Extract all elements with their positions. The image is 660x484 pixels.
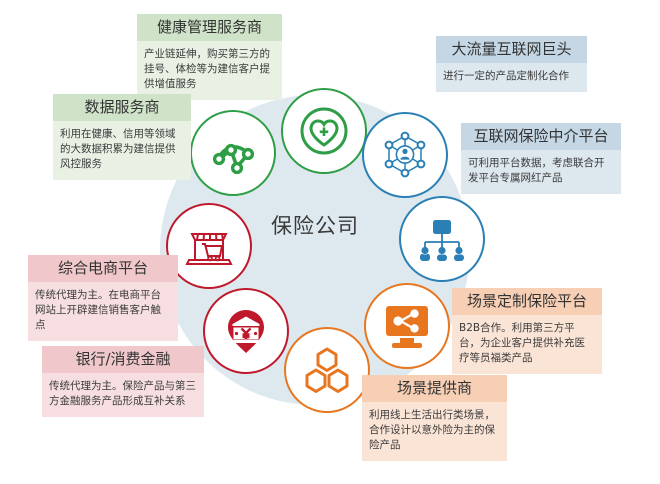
bubble-internet-giant[interactable] [362,112,448,198]
callout-title: 场景提供商 [362,375,507,402]
callout-internet-giant[interactable]: 大流量互联网巨头 进行一定的产品定制化合作 [436,36,587,92]
honeycomb-icon [300,343,354,397]
callout-title: 综合电商平台 [28,255,178,282]
callout-bank-consumer-finance[interactable]: 银行/消费金融 传统代理为主。保险产品与第三方金融服务产品形成互补关系 [42,346,204,417]
callout-title: 互联网保险中介平台 [461,123,621,150]
callout-title: 场景定制保险平台 [452,288,602,315]
bubble-insurance-broker-platform[interactable] [399,196,485,282]
network-person-icon [377,127,433,183]
org-chart-icon [414,211,470,267]
callout-title: 银行/消费金融 [42,346,204,373]
bubble-bank-consumer-finance[interactable] [203,288,289,374]
bubble-scenario-provider[interactable] [284,327,370,413]
callout-title: 大流量互联网巨头 [436,36,587,63]
callout-scenario-provider[interactable]: 场景提供商 利用线上生活出行类场景，合作设计以意外险为主的保险产品 [362,375,507,461]
callout-health-management[interactable]: 健康管理服务商 产业链延伸，购买第三方的挂号、体检等为建信客户提供增值服务 [137,14,282,100]
callout-data-service[interactable]: 数据服务商 利用在健康、信用等领域的大数据积累为建信提供风控服务 [53,94,191,180]
callout-desc: 产业链延伸，购买第三方的挂号、体检等为建信客户提供增值服务 [137,41,282,101]
bubble-data-service[interactable] [190,110,276,196]
bank-pin-icon [219,304,273,358]
diagram-canvas: 保险公司 [0,0,660,484]
heart-plus-icon [297,104,351,158]
bubble-ecommerce-platform[interactable] [166,203,252,289]
callout-title: 健康管理服务商 [137,14,282,41]
callout-desc: 利用在健康、信用等领域的大数据积累为建信提供风控服务 [53,121,191,181]
callout-title: 数据服务商 [53,94,191,121]
callout-insurance-broker-platform[interactable]: 互联网保险中介平台 可利用平台数据，考虑联合开发平台专属网红产品 [461,123,621,194]
callout-desc: 进行一定的产品定制化合作 [436,63,587,92]
callout-desc: 利用线上生活出行类场景，合作设计以意外险为主的保险产品 [362,402,507,462]
monitor-share-icon [379,298,435,354]
node-graph-icon [207,127,259,179]
callout-scenario-custom-platform[interactable]: 场景定制保险平台 B2B合作。利用第三方平台，为企业客户提供补充医疗等员福类产品 [452,288,602,374]
callout-ecommerce-platform[interactable]: 综合电商平台 传统代理为主。在电商平台网站上开辟建信销售客户触点 [28,255,178,341]
callout-desc: 可利用平台数据，考虑联合开发平台专属网红产品 [461,150,621,194]
bubble-health-management[interactable] [281,88,367,174]
callout-desc: B2B合作。利用第三方平台，为企业客户提供补充医疗等员福类产品 [452,315,602,375]
callout-desc: 传统代理为主。保险产品与第三方金融服务产品形成互补关系 [42,373,204,417]
online-store-icon [181,218,237,274]
bubble-scenario-custom-platform[interactable] [364,283,450,369]
callout-desc: 传统代理为主。在电商平台网站上开辟建信销售客户触点 [28,282,178,342]
